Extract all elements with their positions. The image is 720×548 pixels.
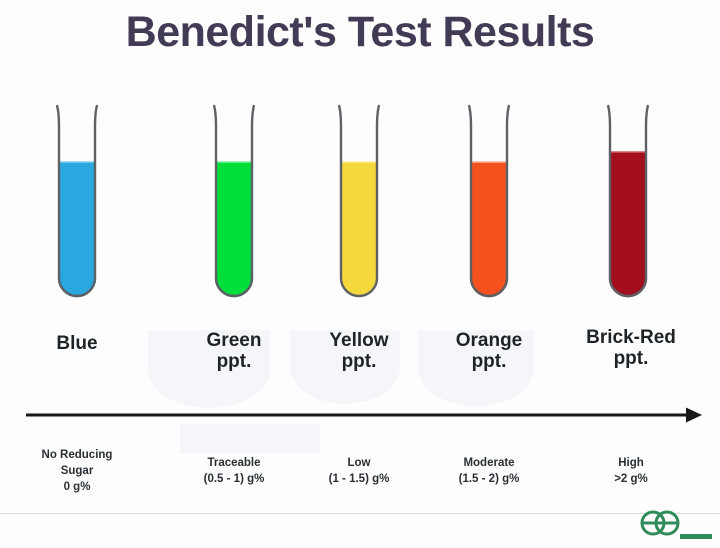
- tube-slot-green: [174, 104, 294, 324]
- concentration-brick-red-line1: High: [556, 456, 706, 472]
- increasing-concentration-arrow: [26, 404, 702, 426]
- color-label-brick-red-line2: ppt.: [556, 348, 706, 369]
- tube-slot-blue: [17, 104, 137, 324]
- tube-green: [210, 104, 258, 304]
- color-label-yellow: Yellow ppt.: [284, 330, 434, 373]
- concentration-label-yellow: Low (1 - 1.5) g%: [284, 456, 434, 488]
- color-label-orange: Orange ppt.: [414, 330, 564, 373]
- concentration-label-blue: No Reducing Sugar 0 g%: [2, 448, 152, 496]
- tube-blue: [53, 104, 101, 304]
- color-label-blue-line1: Blue: [2, 333, 152, 354]
- tube-orange: [465, 104, 513, 304]
- tube-yellow: [335, 104, 383, 304]
- concentration-yellow-line1: Low: [284, 456, 434, 472]
- geeksforgeeks-logo: [636, 504, 714, 546]
- color-label-orange-line2: ppt.: [414, 351, 564, 372]
- concentration-label-orange: Moderate (1.5 - 2) g%: [414, 456, 564, 488]
- concentration-blue-line1: No Reducing: [2, 448, 152, 464]
- footer-divider: [0, 513, 720, 514]
- concentration-blue-line2: Sugar: [2, 464, 152, 480]
- background-watermark-4: [180, 424, 320, 454]
- tube-slot-brick-red: [568, 104, 688, 324]
- color-label-brick-red-line1: Brick-Red: [556, 327, 706, 348]
- concentration-orange-line2: (1.5 - 2) g%: [414, 472, 564, 488]
- concentration-brick-red-line2: >2 g%: [556, 472, 706, 488]
- color-label-yellow-line1: Yellow: [284, 330, 434, 351]
- concentration-orange-line1: Moderate: [414, 456, 564, 472]
- benedicts-test-infographic: Benedict's Test Results: [0, 0, 720, 548]
- tube-brick-red: [604, 104, 652, 304]
- concentration-yellow-line2: (1 - 1.5) g%: [284, 472, 434, 488]
- color-label-orange-line1: Orange: [414, 330, 564, 351]
- page-title: Benedict's Test Results: [0, 8, 720, 57]
- test-tube-rack: [0, 104, 720, 324]
- color-label-blue: Blue: [2, 333, 152, 354]
- color-label-brick-red: Brick-Red ppt.: [556, 327, 706, 370]
- concentration-label-brick-red: High >2 g%: [556, 456, 706, 488]
- color-label-yellow-line2: ppt.: [284, 351, 434, 372]
- concentration-blue-line3: 0 g%: [2, 480, 152, 496]
- tube-slot-yellow: [299, 104, 419, 324]
- tube-slot-orange: [429, 104, 549, 324]
